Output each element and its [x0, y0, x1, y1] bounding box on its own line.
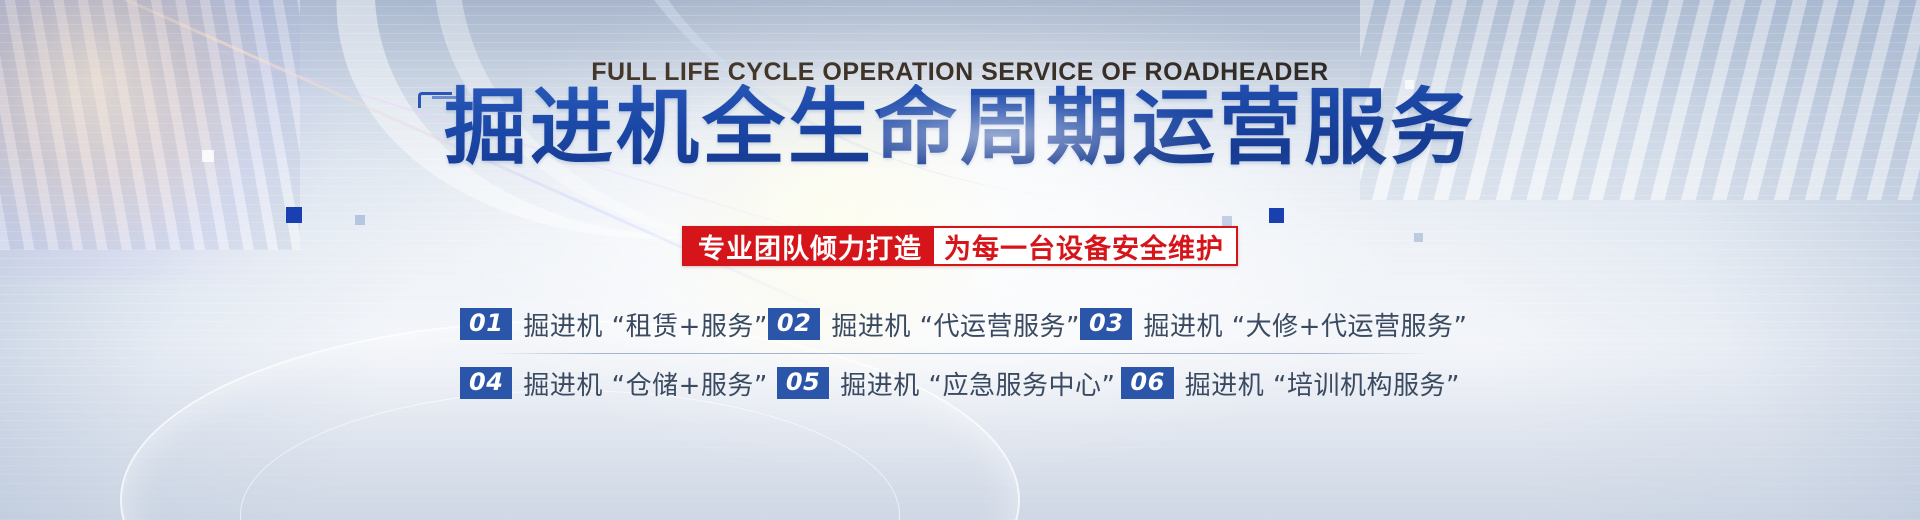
slogan-ribbon: 专业团队倾力打造 为每一台设备安全维护 — [682, 226, 1238, 266]
service-number-badge: 02 — [768, 308, 820, 340]
service-label: 掘进机 “大修+代运营服务” — [1143, 306, 1467, 343]
banner-content: FULL LIFE CYCLE OPERATION SERVICE OF ROA… — [0, 0, 1920, 520]
service-row-1: 01 掘进机 “租赁+服务” 02 掘进机 “代运营服务” 03 掘进机 “大修… — [460, 295, 1460, 353]
service-number-badge: 03 — [1080, 308, 1132, 340]
service-list: 01 掘进机 “租赁+服务” 02 掘进机 “代运营服务” 03 掘进机 “大修… — [460, 295, 1460, 412]
service-label: 掘进机 “仓储+服务” — [523, 365, 768, 402]
service-number-badge: 01 — [460, 308, 512, 340]
service-item-06[interactable]: 06 掘进机 “培训机构服务” — [1121, 365, 1460, 402]
slogan-secondary: 为每一台设备安全维护 — [934, 228, 1236, 264]
page-title: 掘进机全生命周期运营服务 — [0, 84, 1920, 171]
service-item-03[interactable]: 03 掘进机 “大修+代运营服务” — [1080, 306, 1467, 343]
service-item-02[interactable]: 02 掘进机 “代运营服务” — [768, 306, 1080, 343]
service-label: 掘进机 “租赁+服务” — [523, 306, 768, 343]
slogan-primary: 专业团队倾力打造 — [684, 228, 934, 264]
service-item-04[interactable]: 04 掘进机 “仓储+服务” — [460, 365, 768, 402]
service-number-badge: 05 — [777, 367, 829, 399]
service-label: 掘进机 “应急服务中心” — [840, 365, 1115, 402]
service-number-badge: 04 — [460, 367, 512, 399]
service-item-05[interactable]: 05 掘进机 “应急服务中心” — [777, 365, 1116, 402]
service-label: 掘进机 “培训机构服务” — [1185, 365, 1460, 402]
service-number-badge: 06 — [1121, 367, 1173, 399]
service-item-01[interactable]: 01 掘进机 “租赁+服务” — [460, 306, 768, 343]
promo-banner: FULL LIFE CYCLE OPERATION SERVICE OF ROA… — [0, 0, 1920, 520]
service-label: 掘进机 “代运营服务” — [831, 306, 1080, 343]
service-row-2: 04 掘进机 “仓储+服务” 05 掘进机 “应急服务中心” 06 掘进机 “培… — [460, 354, 1460, 412]
